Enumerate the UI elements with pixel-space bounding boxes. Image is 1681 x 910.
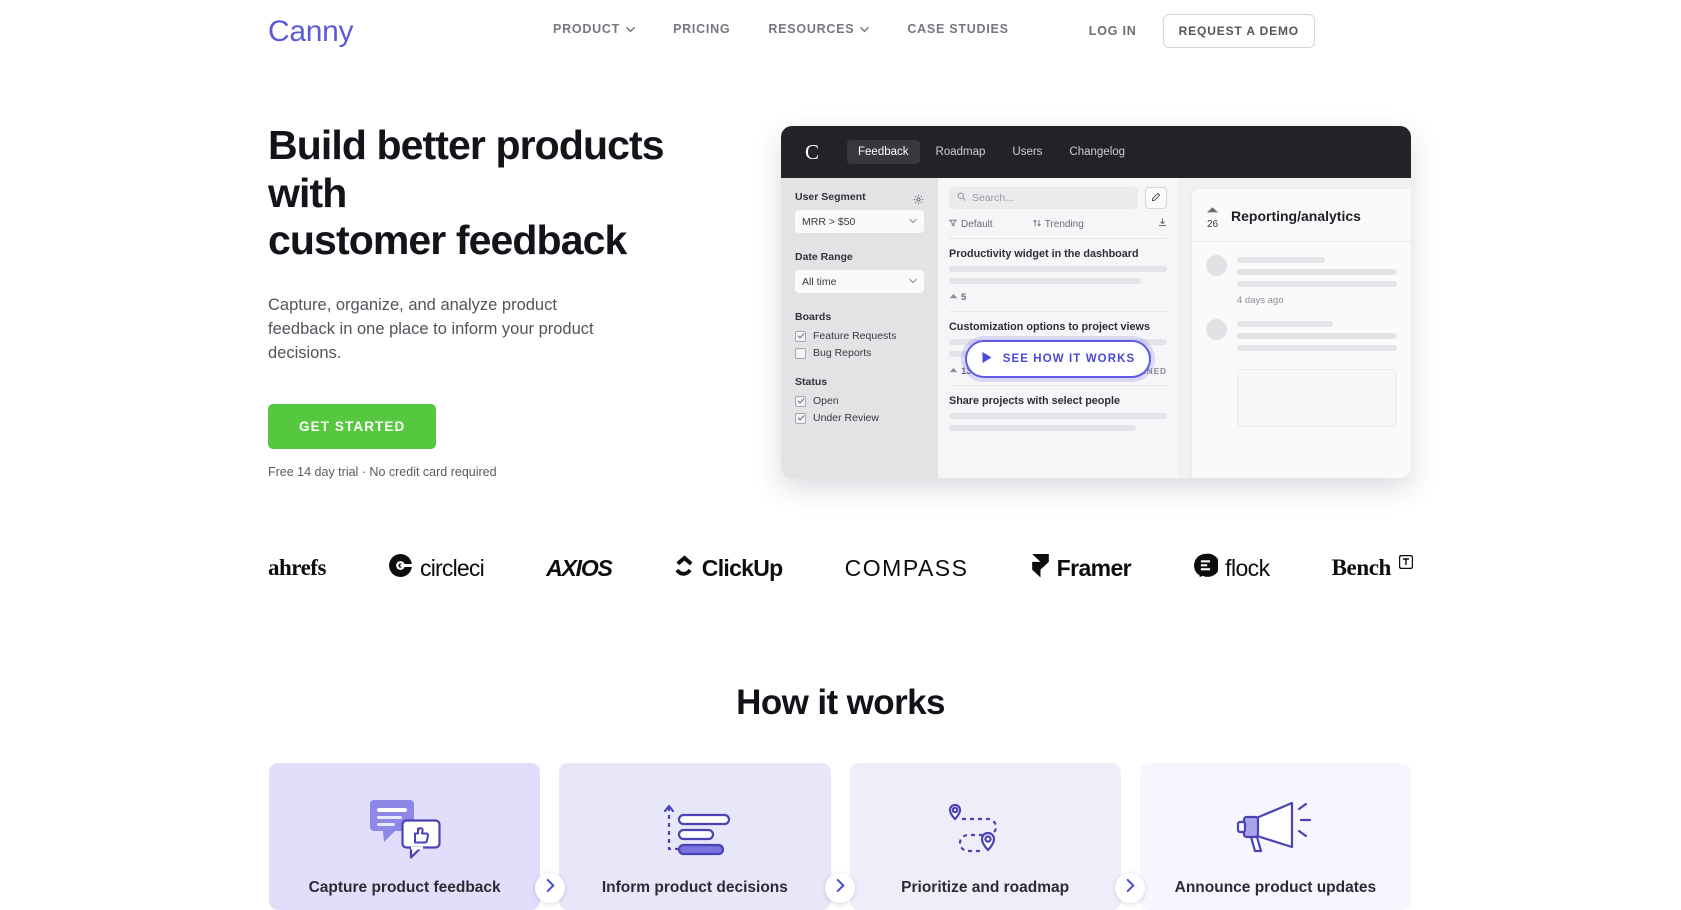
chat-thumbsup-icon — [367, 797, 443, 864]
search-input[interactable]: Search... — [949, 187, 1138, 209]
log-in-link[interactable]: LOG IN — [1089, 24, 1137, 38]
post-title: Productivity widget in the dashboard — [949, 248, 1167, 260]
chevron-down-icon — [909, 276, 917, 288]
logo-clickup: ClickUp — [674, 554, 783, 583]
avatar — [1206, 319, 1227, 340]
card-label: Capture product feedback — [309, 879, 501, 897]
nav-item-case-studies-label: CASE STUDIES — [907, 22, 1008, 36]
user-segment-value: MRR > $50 — [802, 216, 855, 228]
board-checkbox-bug-reports[interactable]: Bug Reports — [795, 347, 924, 359]
mockup-header: C Feedback Roadmap Users Changelog — [781, 126, 1411, 178]
mockup-tab-changelog[interactable]: Changelog — [1058, 140, 1136, 164]
checkbox-unchecked-icon — [795, 348, 806, 359]
page-title: Build better products with customer feed… — [268, 122, 698, 265]
upvote-icon — [1206, 201, 1219, 219]
post-item[interactable]: Productivity widget in the dashboard 5 — [949, 239, 1167, 312]
mockup-post-detail: 26 Reporting/analytics 4 days ago — [1178, 178, 1411, 478]
see-how-it-works-button[interactable]: SEE HOW IT WORKS — [965, 340, 1151, 378]
chevron-right-icon — [545, 879, 556, 897]
logo-flock-label: flock — [1225, 555, 1269, 582]
request-demo-button[interactable]: REQUEST A DEMO — [1163, 14, 1315, 48]
mockup-body: User Segment MRR > $50 Date Range — [781, 178, 1411, 478]
filter-default-label: Default — [961, 219, 993, 230]
gear-icon[interactable] — [913, 192, 924, 203]
date-range-value: All time — [802, 276, 836, 288]
search-icon — [957, 192, 966, 204]
post-item[interactable]: Share projects with select people — [949, 386, 1167, 439]
logo-compass: COMPASS — [845, 555, 969, 582]
pencil-icon — [1151, 189, 1161, 207]
framer-icon — [1031, 553, 1050, 583]
nav-item-pricing[interactable]: PRICING — [673, 22, 730, 36]
hero-title-line-2: with — [268, 170, 346, 216]
customer-logo-strip: ahrefs circleci AXIOS ClickUp COMPASS — [268, 545, 1413, 591]
post-skeleton-line — [949, 266, 1167, 272]
filter-trending[interactable]: Trending — [1033, 219, 1084, 230]
vote-count-value: 5 — [961, 292, 966, 303]
logo-circleci: circleci — [388, 553, 484, 583]
filter-row: Default Trending — [949, 218, 1167, 239]
card-next-arrow-1[interactable] — [535, 873, 565, 903]
logo-circleci-label: circleci — [420, 555, 484, 582]
landing-page: Canny PRODUCT PRICING RESOURCES CASE STU… — [0, 0, 1681, 910]
nav-links: PRODUCT PRICING RESOURCES CASE STUDIES — [553, 22, 1009, 36]
boards-label: Boards — [795, 311, 924, 323]
chevron-right-icon — [1125, 879, 1136, 897]
logo-compass-label: COMPASS — [845, 555, 969, 582]
comment-skeleton — [1237, 255, 1397, 287]
nav-item-product-label: PRODUCT — [553, 22, 620, 36]
status-checkbox-open[interactable]: Open — [795, 395, 924, 407]
see-how-it-works-label: SEE HOW IT WORKS — [1003, 353, 1136, 365]
board-checkbox-feature-requests[interactable]: Feature Requests — [795, 330, 924, 342]
checkbox-checked-icon — [795, 331, 806, 342]
bench-icon — [1399, 555, 1413, 574]
user-segment-label: User Segment — [795, 191, 866, 203]
sorted-list-icon — [655, 797, 735, 864]
hero-title-line-3: customer feedback — [268, 217, 626, 263]
post-detail-card: 26 Reporting/analytics 4 days ago — [1192, 189, 1411, 478]
post-title: Customization options to project views — [949, 321, 1167, 333]
logo-bench-label: Bench — [1332, 555, 1391, 581]
status-label-text: Open — [813, 395, 839, 407]
status-label: Status — [795, 376, 924, 388]
card-label: Announce product updates — [1175, 879, 1377, 897]
chevron-down-icon — [626, 25, 635, 34]
comment-item — [1206, 319, 1397, 351]
upvote-icon — [949, 292, 958, 303]
play-icon — [981, 351, 993, 367]
hero-subtitle: Capture, organize, and analyze product f… — [268, 293, 598, 366]
reply-box[interactable] — [1237, 369, 1397, 427]
divider — [1192, 241, 1411, 242]
top-navigation: Canny PRODUCT PRICING RESOURCES CASE STU… — [0, 0, 1681, 64]
sort-icon — [1033, 219, 1041, 230]
clickup-icon — [674, 554, 695, 583]
mockup-tabs: Feedback Roadmap Users Changelog — [847, 140, 1136, 164]
nav-actions: LOG IN REQUEST A DEMO — [1089, 14, 1315, 48]
card-next-arrow-2[interactable] — [825, 873, 855, 903]
how-it-works-title: How it works — [0, 683, 1681, 723]
logo-bench: Bench — [1332, 555, 1413, 581]
nav-item-resources-label: RESOURCES — [768, 22, 854, 36]
logo-axios-label: AXIOS — [546, 555, 612, 582]
how-it-works-cards: Capture product feedback Inform product … — [269, 763, 1411, 910]
comment-skeleton-line — [1237, 281, 1397, 287]
product-screenshot: C Feedback Roadmap Users Changelog User … — [781, 126, 1411, 478]
nav-item-product[interactable]: PRODUCT — [553, 22, 635, 36]
mockup-tab-roadmap[interactable]: Roadmap — [925, 140, 997, 164]
comment-skeleton-line — [1237, 333, 1397, 339]
megaphone-icon — [1232, 797, 1318, 864]
logo-axios: AXIOS — [546, 555, 612, 582]
logo-clickup-label: ClickUp — [702, 555, 783, 582]
create-post-button[interactable] — [1145, 187, 1167, 209]
chevron-right-icon — [835, 879, 846, 897]
post-detail-header: 26 Reporting/analytics — [1206, 201, 1397, 230]
logo-ahrefs-label: ahrefs — [268, 555, 326, 581]
post-detail-votes[interactable]: 26 — [1206, 201, 1219, 230]
nav-item-case-studies[interactable]: CASE STUDIES — [907, 22, 1008, 36]
route-pins-icon — [946, 797, 1024, 864]
logo-flock: flock — [1193, 553, 1269, 583]
date-range-select[interactable]: All time — [795, 270, 924, 293]
upvote-icon — [949, 366, 958, 377]
logo-framer: Framer — [1031, 553, 1131, 583]
card-capture-product-feedback[interactable]: Capture product feedback — [269, 763, 540, 910]
status-checkbox-under-review[interactable]: Under Review — [795, 412, 924, 424]
comment-timestamp: 4 days ago — [1237, 295, 1397, 306]
chevron-down-icon — [860, 25, 869, 34]
filter-default[interactable]: Default — [949, 219, 993, 230]
card-announce-product-updates[interactable]: Announce product updates — [1140, 763, 1411, 910]
board-label: Bug Reports — [813, 347, 871, 359]
status-label-text: Under Review — [813, 412, 879, 424]
checkbox-checked-icon — [795, 396, 806, 407]
card-label: Inform product decisions — [602, 879, 788, 897]
nav-item-resources[interactable]: RESOURCES — [768, 22, 869, 36]
trial-note: Free 14 day trial · No credit card requi… — [268, 465, 698, 479]
flock-icon — [1193, 553, 1218, 583]
canny-logo[interactable]: Canny — [268, 14, 353, 50]
mockup-sidebar: User Segment MRR > $50 Date Range — [781, 178, 938, 478]
checkbox-checked-icon — [795, 413, 806, 424]
comment-skeleton-line — [1237, 321, 1333, 327]
logo-framer-label: Framer — [1057, 555, 1131, 582]
hero-title-line-1: Build better products — [268, 122, 664, 168]
post-title: Share projects with select people — [949, 395, 1167, 407]
date-range-label: Date Range — [795, 251, 924, 263]
post-skeleton-line — [949, 278, 1141, 284]
filter-trending-label: Trending — [1045, 219, 1084, 230]
search-row: Search... — [949, 187, 1167, 209]
avatar — [1206, 255, 1227, 276]
download-icon — [1158, 218, 1167, 230]
mockup-tab-users[interactable]: Users — [1001, 140, 1053, 164]
circleci-icon — [388, 553, 413, 583]
vote-count-value: 26 — [1207, 219, 1218, 230]
chevron-down-icon — [909, 216, 917, 228]
comment-skeleton-line — [1237, 345, 1397, 351]
hero-section: Build better products with customer feed… — [268, 122, 698, 479]
comment-item — [1206, 255, 1397, 287]
comment-skeleton-line — [1237, 257, 1325, 263]
post-skeleton-line — [949, 425, 1136, 431]
user-segment-row: User Segment — [795, 191, 924, 210]
post-skeleton-line — [949, 413, 1167, 419]
vote-count: 5 — [949, 292, 966, 303]
card-inform-product-decisions[interactable]: Inform product decisions — [559, 763, 830, 910]
mockup-post-list: Search... D — [938, 178, 1178, 478]
search-placeholder: Search... — [972, 192, 1014, 204]
mockup-logo: C — [799, 139, 825, 165]
export-button[interactable] — [1158, 218, 1167, 230]
get-started-button[interactable]: GET STARTED — [268, 404, 436, 449]
card-next-arrow-3[interactable] — [1115, 873, 1145, 903]
comment-skeleton — [1237, 319, 1397, 351]
mockup-tab-feedback[interactable]: Feedback — [847, 140, 920, 164]
card-label: Prioritize and roadmap — [901, 879, 1069, 897]
logo-ahrefs: ahrefs — [268, 555, 326, 581]
user-segment-select[interactable]: MRR > $50 — [795, 210, 924, 233]
post-detail-title: Reporting/analytics — [1231, 208, 1361, 224]
card-prioritize-and-roadmap[interactable]: Prioritize and roadmap — [850, 763, 1121, 910]
filter-icon — [949, 219, 957, 230]
board-label: Feature Requests — [813, 330, 896, 342]
post-meta: 5 — [949, 292, 1167, 303]
comment-skeleton-line — [1237, 269, 1397, 275]
nav-item-pricing-label: PRICING — [673, 22, 730, 36]
